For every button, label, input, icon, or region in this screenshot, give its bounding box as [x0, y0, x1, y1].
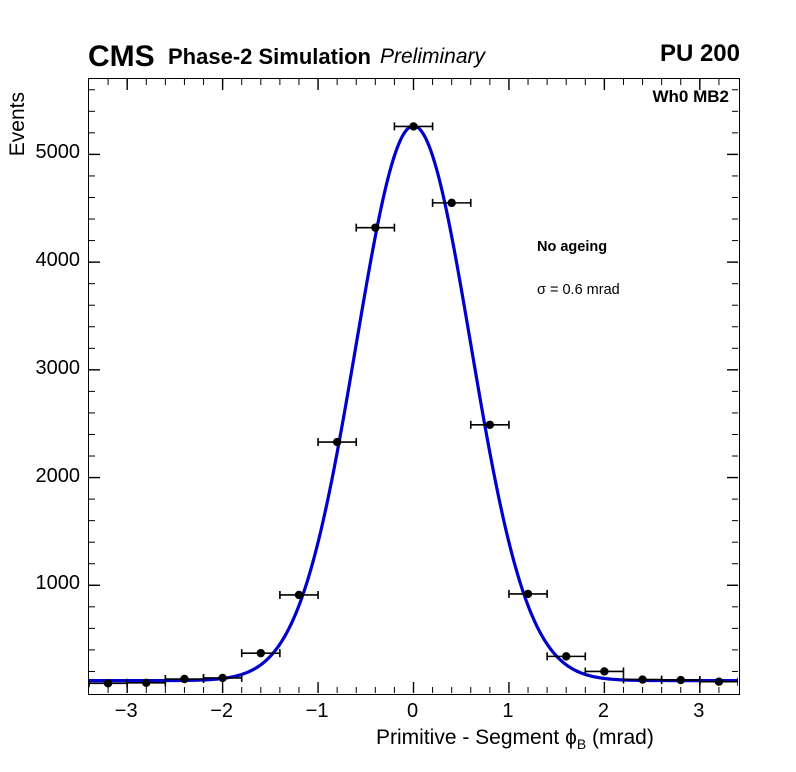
data-marker — [638, 675, 646, 683]
gaussian-fit-curve — [89, 126, 738, 681]
y-tick-label: 3000 — [4, 357, 80, 380]
phase2-label: Phase-2 Simulation — [168, 46, 371, 68]
data-marker — [295, 591, 303, 599]
data-marker — [409, 122, 417, 130]
preliminary-label: Preliminary — [380, 46, 485, 67]
data-marker — [180, 675, 188, 683]
data-marker — [600, 667, 608, 675]
data-marker — [218, 674, 226, 682]
axis-ticks — [89, 79, 738, 693]
data-marker — [524, 590, 532, 598]
x-tick-label: 3 — [679, 700, 719, 723]
y-tick-label: 2000 — [4, 465, 80, 488]
x-tick-label: 1 — [488, 700, 528, 723]
data-marker — [677, 676, 685, 684]
y-tick-label: 1000 — [4, 572, 80, 595]
data-marker — [486, 421, 494, 429]
data-marker — [447, 199, 455, 207]
y-tick-label: 4000 — [4, 249, 80, 272]
x-axis-label-main: Primitive - Segment — [376, 726, 565, 749]
x-tick-label: −1 — [297, 700, 337, 723]
chart-page: CMS Phase-2 Simulation Preliminary PU 20… — [0, 0, 796, 772]
y-tick-label: 5000 — [4, 141, 80, 164]
data-marker — [142, 679, 150, 687]
data-marker — [715, 677, 723, 685]
pileup-label: PU 200 — [660, 42, 740, 66]
x-axis-label-subscript: B — [577, 736, 586, 752]
data-marker — [104, 679, 112, 687]
x-tick-label: 0 — [393, 700, 433, 723]
data-marker — [562, 652, 570, 660]
x-tick-label: −3 — [106, 700, 146, 723]
plot-canvas — [89, 79, 738, 693]
x-tick-label: −2 — [202, 700, 242, 723]
data-marker — [257, 649, 265, 657]
x-tick-label: 2 — [583, 700, 623, 723]
phi-symbol: ϕ — [565, 726, 577, 749]
x-axis-label: Primitive - Segment ϕB (mrad) — [376, 726, 654, 752]
plot-frame: Wh0 MB2 No ageing σ = 0.6 mrad — [88, 78, 740, 695]
x-axis-label-unit: (mrad) — [586, 726, 654, 749]
chart-header: CMS Phase-2 Simulation Preliminary PU 20… — [0, 0, 796, 46]
data-marker — [371, 223, 379, 231]
data-marker — [333, 438, 341, 446]
cms-logo-text: CMS — [88, 42, 155, 72]
data-points — [89, 122, 738, 687]
